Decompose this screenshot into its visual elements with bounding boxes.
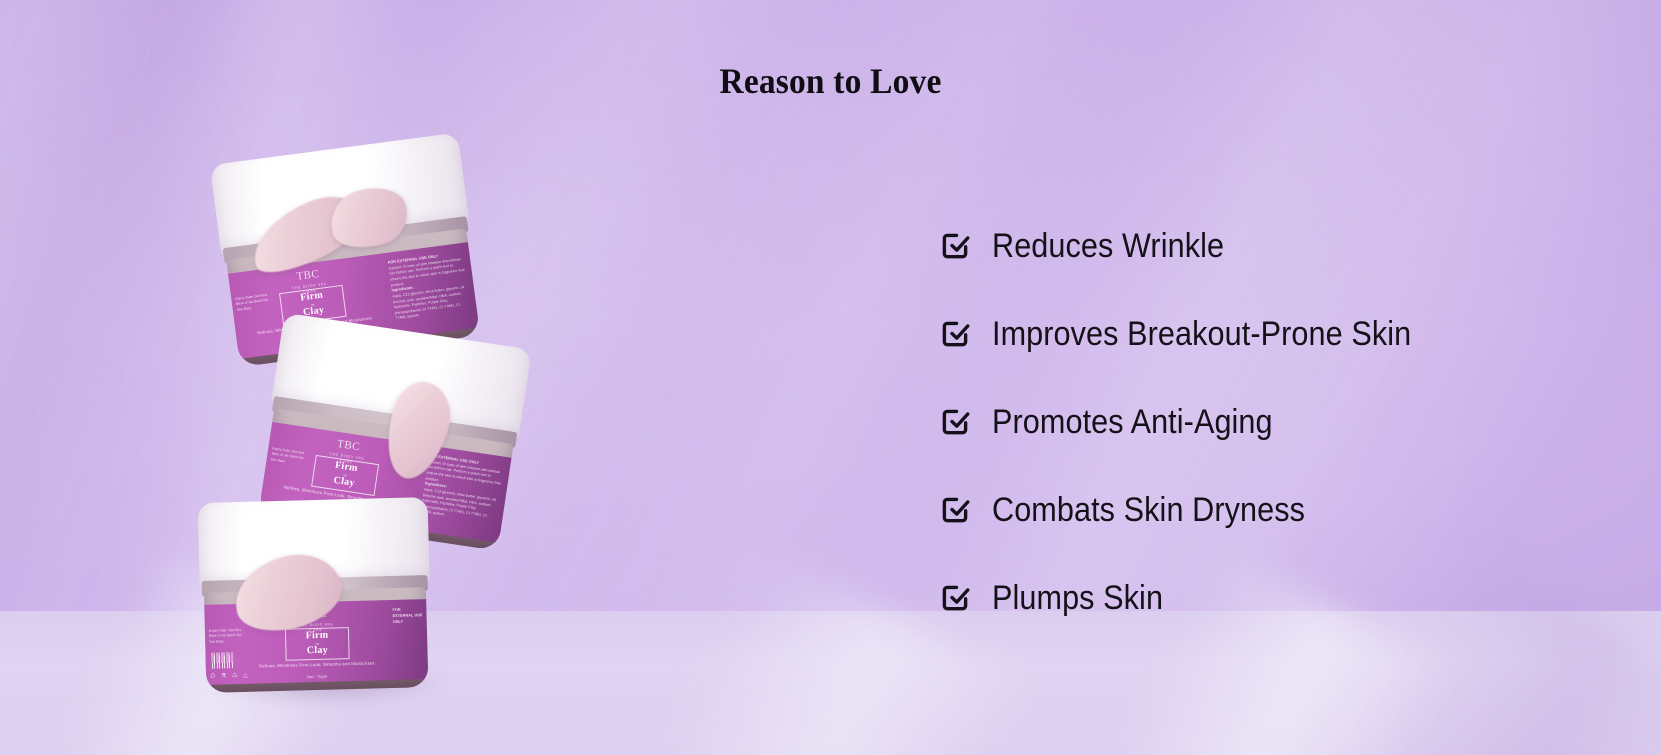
product-name-line3: Clay xyxy=(307,646,328,657)
label-back-text: FOR EXTERNAL USE ONLY Caution: In case o… xyxy=(388,251,471,322)
check-square-icon xyxy=(940,319,970,349)
label-back-text: FOR EXTERNAL USE ONLY Caution: In case o… xyxy=(420,454,504,526)
product-jar-bottom: Expiry Date: See Box Base of Jar Batch N… xyxy=(198,497,433,693)
care-symbols: ∅ ⚗ ♺ △ xyxy=(210,672,250,680)
product-net-weight: Net: 75gm xyxy=(248,672,386,681)
list-item: Improves Breakout-Prone Skin xyxy=(940,303,1580,365)
label-back-heading: FOR EXTERNAL USE ONLY xyxy=(392,608,422,624)
check-square-icon xyxy=(940,495,970,525)
list-item: Reduces Wrinkle xyxy=(940,215,1580,277)
label-back-text: FOR EXTERNAL USE ONLY xyxy=(392,607,422,625)
benefit-label: Reduces Wrinkle xyxy=(992,227,1224,266)
product-name-line2: or xyxy=(311,303,315,308)
check-square-icon xyxy=(940,583,970,613)
label-back-caution: Caution: In case of skin irritation disc… xyxy=(425,459,503,492)
list-item: Promotes Anti-Aging xyxy=(940,391,1580,453)
label-side-text: Expiry Date: See Box Base of Jar Batch N… xyxy=(270,446,308,467)
check-square-icon xyxy=(940,407,970,437)
list-item: Plumps Skin xyxy=(940,567,1580,629)
check-square-icon xyxy=(940,231,970,261)
label-side-text: Expiry Date: See Box Base of Jar Batch N… xyxy=(235,292,273,313)
product-tagline: Refines, Minimizes Pore-Look, Smooths an… xyxy=(248,660,386,670)
benefits-list: Reduces Wrinkle Improves Breakout-Prone … xyxy=(940,215,1580,629)
list-item: Combats Skin Dryness xyxy=(940,479,1580,541)
product-name-line3: Clay xyxy=(333,476,356,490)
product-name-box: Firm or Clay xyxy=(285,627,350,661)
product-name-line2: or xyxy=(343,473,347,478)
benefit-label: Plumps Skin xyxy=(992,579,1163,618)
product-name-line2: or xyxy=(316,642,319,646)
label-ingredients: Aqua, C12 glycerin, shea butter, glyceri… xyxy=(420,487,499,526)
product-image-group: Expiry Date: See Box Base of Jar Batch N… xyxy=(0,0,680,755)
label-side-text: Expiry Date: See Box Base of Jar Batch N… xyxy=(209,628,245,645)
benefit-label: Promotes Anti-Aging xyxy=(992,403,1273,442)
promo-banner: Reason to Love Expiry Date: See Box Base… xyxy=(0,0,1661,755)
benefit-label: Improves Breakout-Prone Skin xyxy=(992,315,1411,354)
benefit-label: Combats Skin Dryness xyxy=(992,491,1305,530)
barcode xyxy=(211,652,233,669)
